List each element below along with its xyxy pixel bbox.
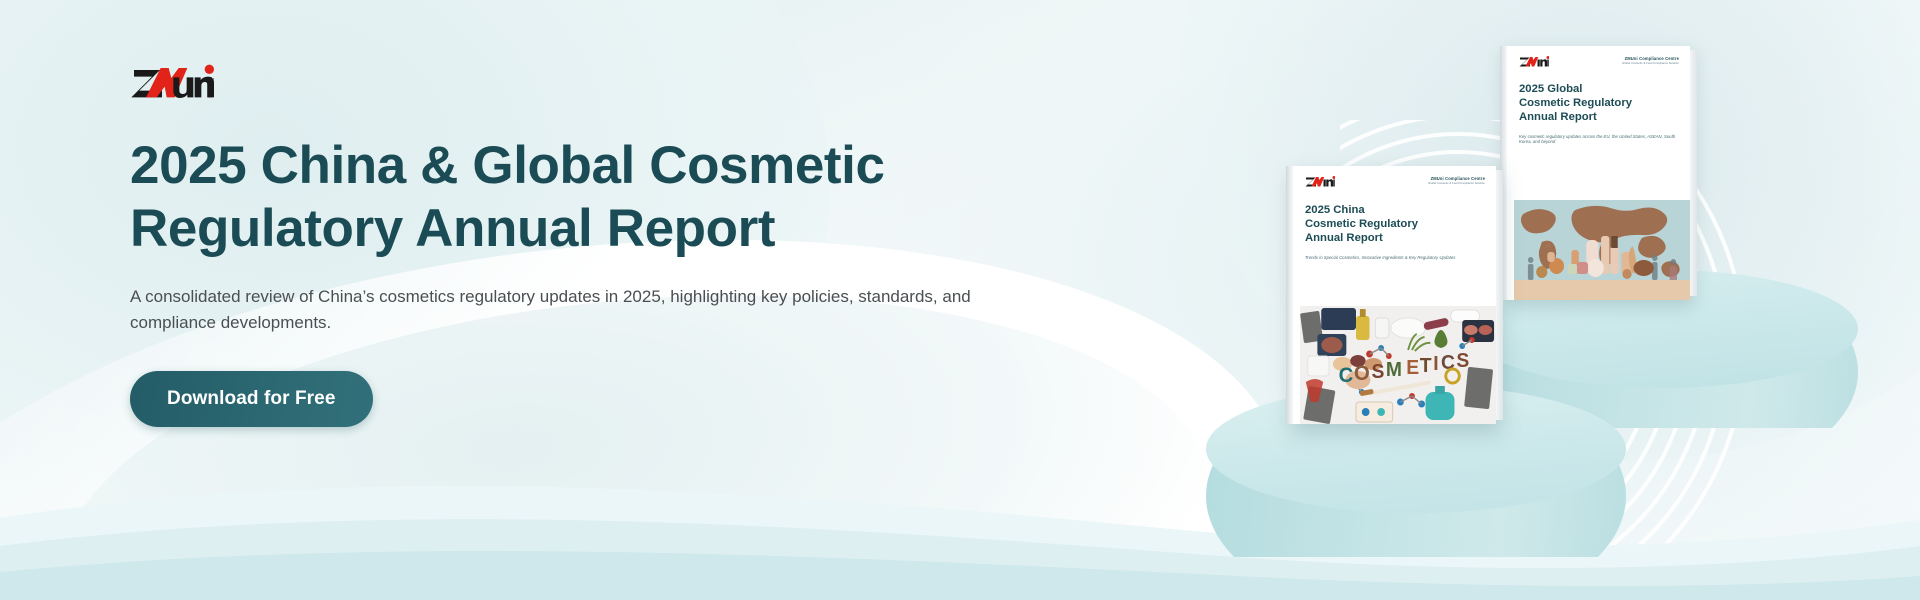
promo-banner: ZMUni Compliance Centre Global Cosmetic … <box>0 0 1920 600</box>
book-back-title-line1: 2025 Global <box>1519 82 1678 96</box>
book-zmuni-logo-icon <box>1519 56 1549 67</box>
book-back-title-line3: Annual Report <box>1519 110 1678 124</box>
book-compliance-centre-label: ZMUni Compliance Centre Global Cosmetic … <box>1428 176 1485 185</box>
book-front-cover-image: C O S M E T I C S <box>1300 306 1496 424</box>
book-front-subtitle: Trends in Special Cosmetics, Innovative … <box>1293 255 1496 261</box>
page-title: 2025 China & Global Cosmetic Regulatory … <box>130 135 960 260</box>
hero-content: 2025 China & Global Cosmetic Regulatory … <box>130 0 1090 427</box>
zmuni-logo[interactable] <box>130 62 214 102</box>
svg-text:I: I <box>1433 353 1438 375</box>
book-front-title: 2025 China Cosmetic Regulatory Annual Re… <box>1293 203 1496 246</box>
book-back-title-line2: Cosmetic Regulatory <box>1519 96 1678 110</box>
book-cover-global-report[interactable]: ZMUni Compliance Centre Global Cosmetic … <box>1500 46 1690 300</box>
svg-text:C: C <box>1339 364 1355 387</box>
book-cover-header: ZMUni Compliance Centre Global Cosmetic … <box>1507 46 1690 67</box>
centre-title: ZMUni Compliance Centre <box>1622 56 1679 61</box>
headline-line2: Regulatory Annual Report <box>130 199 775 258</box>
book-front-cover-face: ZMUni Compliance Centre Global Cosmetic … <box>1293 166 1496 424</box>
hero-subcopy: A consolidated review of China’s cosmeti… <box>130 284 1014 335</box>
svg-text:S: S <box>1456 350 1469 372</box>
book-back-title: 2025 Global Cosmetic Regulatory Annual R… <box>1507 82 1690 125</box>
centre-subtitle: Global Cosmetic & Food Compliance Soluti… <box>1622 62 1679 65</box>
book-back-cover-face: ZMUni Compliance Centre Global Cosmetic … <box>1507 46 1690 300</box>
book-page-edge <box>1690 50 1697 296</box>
book-page-edge <box>1496 170 1503 420</box>
book-cover-header: ZMUni Compliance Centre Global Cosmetic … <box>1293 166 1496 187</box>
svg-text:O: O <box>1354 362 1370 385</box>
svg-text:S: S <box>1371 361 1384 383</box>
centre-title: ZMUni Compliance Centre <box>1428 176 1485 181</box>
book-back-subtitle: Key cosmetic regulatory updates across t… <box>1507 134 1690 146</box>
book-front-title-line2: Cosmetic Regulatory <box>1305 217 1484 231</box>
book-cover-china-report[interactable]: ZMUni Compliance Centre Global Cosmetic … <box>1286 166 1496 424</box>
book-front-title-line3: Annual Report <box>1305 231 1484 245</box>
centre-subtitle: Global Cosmetic & Food Compliance Soluti… <box>1428 182 1485 185</box>
book-compliance-centre-label: ZMUni Compliance Centre Global Cosmetic … <box>1622 56 1679 65</box>
headline-line1: 2025 China & Global Cosmetic <box>130 136 885 195</box>
book-front-title-line1: 2025 China <box>1305 203 1484 217</box>
svg-text:E: E <box>1406 357 1419 379</box>
svg-text:M: M <box>1386 359 1402 381</box>
book-spine <box>1286 166 1293 424</box>
book-zmuni-logo-icon <box>1305 176 1335 187</box>
download-for-free-button[interactable]: Download for Free <box>130 371 373 427</box>
svg-text:T: T <box>1420 355 1432 377</box>
bottom-wave-decoration <box>0 400 1920 600</box>
book-back-cover-image <box>1514 200 1690 300</box>
